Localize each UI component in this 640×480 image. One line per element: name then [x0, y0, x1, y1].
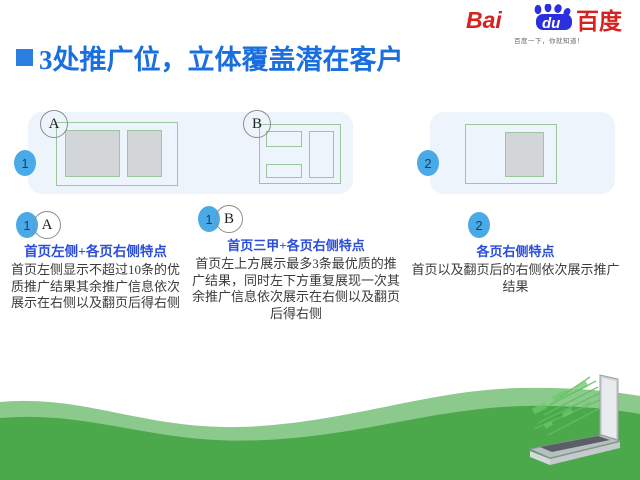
diagram-b-right-column: [309, 131, 334, 178]
diagram-a-block-primary: [65, 130, 120, 177]
panel-badge-1: 1: [14, 150, 36, 176]
laptop-icon: [478, 353, 638, 478]
square-bullet-icon: [16, 49, 33, 66]
column-1-badges: 1 A: [8, 212, 183, 238]
diagram-b-bar-bottom: [266, 164, 302, 178]
column-3-body: 首页以及翻页后的右侧依次展示推广结果: [408, 262, 623, 295]
diagram-a-block-secondary: [127, 130, 162, 177]
baidu-logo: Bai du 百度 百度一下，你就知道！: [464, 4, 634, 46]
svg-text:du: du: [542, 15, 560, 32]
diagram-label-b: B: [243, 110, 271, 138]
page-title-text: 3处推广位，立体覆盖潜在客户: [39, 38, 404, 77]
text-column-2: 1 B 首页三甲+各页右侧特点 首页左上方展示最多3条最优质的推广结果，同时左下…: [190, 206, 402, 322]
column-2-letter-badge: B: [215, 205, 243, 233]
column-1-heading: 首页左侧+各页右侧特点: [8, 244, 183, 260]
column-3-badges: 2: [408, 212, 623, 238]
diagram-c-right-block: [505, 132, 544, 177]
column-3-number-badge: 2: [468, 212, 490, 238]
column-1-body: 首页左侧显示不超过10条的优质推广结果其余推广信息依次展示在右侧以及翻页后得右侧: [8, 262, 183, 312]
page-title: 3处推广位，立体覆盖潜在客户: [16, 38, 404, 77]
column-2-body: 首页左上方展示最多3条最优质的推广结果，同时左下方重复展现一次其余推广信息依次展…: [190, 256, 402, 322]
column-3-heading: 各页右侧特点: [408, 244, 623, 260]
diagram-b-bar-top: [266, 131, 302, 147]
column-2-badges: 1 B: [190, 206, 402, 232]
svg-text:Bai: Bai: [466, 7, 502, 33]
panel-badge-2: 2: [417, 150, 439, 176]
text-column-3: 2 各页右侧特点 首页以及翻页后的右侧依次展示推广结果: [408, 212, 623, 295]
text-column-1: 1 A 首页左侧+各页右侧特点 首页左侧显示不超过10条的优质推广结果其余推广信…: [8, 212, 183, 312]
baidu-logo-tagline: 百度一下，你就知道！: [464, 35, 634, 45]
slide-canvas: Bai du 百度 百度一下，你就知道！ 3处推广位，立体覆盖潜在客户 1 2 …: [0, 0, 640, 480]
diagram-label-a: A: [40, 110, 68, 138]
svg-text:百度: 百度: [576, 8, 623, 34]
baidu-logo-mark: Bai du 百度: [464, 4, 634, 34]
column-1-letter-badge: A: [33, 211, 61, 239]
column-2-heading: 首页三甲+各页右侧特点: [190, 238, 402, 254]
